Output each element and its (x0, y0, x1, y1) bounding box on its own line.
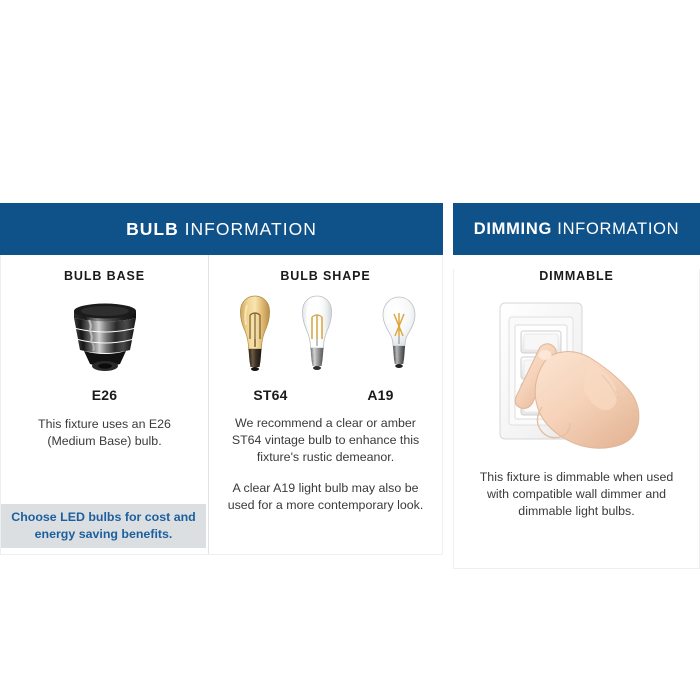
bulb-information-panel: BULB INFORMATION BULB BASE (0, 203, 443, 555)
dimming-information-panel: DIMMING INFORMATION DIMMABLE (453, 203, 700, 569)
led-recommendation-note: Choose LED bulbs for cost and energy sav… (1, 504, 206, 548)
bulb-caption-st64: ST64 (223, 387, 319, 403)
bulb-caption-a19: A19 (333, 387, 429, 403)
dimming-information-title-light: INFORMATION (557, 220, 679, 238)
dimmable-artwork (454, 295, 699, 455)
e26-lamp-base-icon (62, 301, 148, 373)
page-canvas: BULB INFORMATION BULB BASE (0, 0, 700, 700)
dimmable-description: This fixture is dimmable when used with … (468, 469, 686, 520)
bulb-shape-paragraph-1: We recommend a clear or amber ST64 vinta… (220, 415, 432, 466)
dimmable-title: DIMMABLE (454, 269, 699, 283)
bulb-shape-column: BULB SHAPE (208, 255, 442, 554)
bulb-columns: BULB BASE (1, 255, 442, 554)
bulb-information-title-bold: BULB (126, 219, 179, 239)
led-recommendation-note-text: Choose LED bulbs for cost and energy sav… (1, 509, 206, 543)
bulb-base-title: BULB BASE (1, 269, 208, 283)
dimming-information-title-bold: DIMMING (474, 220, 552, 238)
dimming-information-body: DIMMABLE (453, 269, 700, 569)
bulb-information-body: BULB BASE (0, 255, 443, 555)
bulb-shape-title: BULB SHAPE (209, 269, 442, 283)
bulb-shape-captions: ST64 A19 (209, 387, 442, 403)
bulb-information-header: BULB INFORMATION (0, 203, 443, 255)
dimming-information-header: DIMMING INFORMATION (453, 203, 700, 255)
bulb-base-description: This fixture uses an E26 (Medium Base) b… (15, 416, 195, 450)
bulb-base-caption: E26 (1, 387, 208, 403)
a19-clear-bulb-icon (376, 293, 422, 379)
bulb-information-title-light: INFORMATION (185, 219, 317, 239)
wall-dimmer-switch-with-hand-icon (482, 295, 672, 455)
bulb-shape-paragraph-2: A clear A19 light bulb may also be used … (222, 480, 430, 514)
bulb-information-title: BULB INFORMATION (126, 219, 317, 240)
bulb-base-column: BULB BASE (1, 255, 208, 554)
bulb-shape-artwork (209, 293, 442, 379)
bulb-base-artwork (1, 301, 208, 373)
st64-amber-bulb-icon (230, 293, 280, 379)
dimming-information-title: DIMMING INFORMATION (474, 220, 680, 239)
st64-clear-bulb-icon (294, 293, 340, 379)
